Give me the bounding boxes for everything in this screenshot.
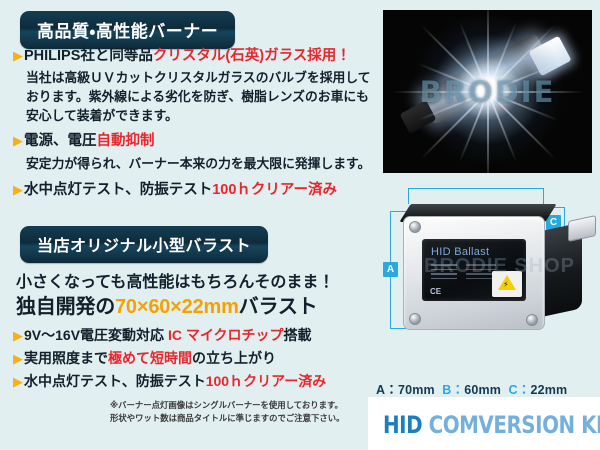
bullet-text-red: 極めて短時間 [108,350,192,366]
feature-desc-line: 当社は高級ＵＶカットクリスタルガラスのバルブを採用して [26,69,371,87]
triangle-bullet-icon: ▶ [13,48,23,63]
triangle-bullet-icon: ▶ [13,182,23,197]
ballast-label-title: HID Ballast [431,246,489,258]
dimensions-legend: A：70mm B：60mm C：22mm [376,379,567,398]
hid-conversion-kit-logo: HID COMVERSION KIT [383,411,600,439]
bullet-text-black: 9V〜16V電圧変動対応 [24,327,168,343]
section-1-badge-title: 高品質・高性能バーナー [20,11,235,49]
bullet-text-black: PHILIPS社と同等品 [24,48,153,64]
ce-mark: CE [430,287,441,296]
left-content-column: 高品質・高性能バーナー ▶PHILIPS社と同等品クリスタル(石英)ガラス採用！… [0,0,372,450]
dim-marker-a: A [383,262,398,277]
feature-bullet-voltage: ▶電源、電圧自動抑制 [13,133,155,150]
bullet-text-red: 100ｈクリアー済み [212,182,337,198]
light-glow [413,14,563,164]
bullet-text-black: 電源、電圧 [24,133,97,149]
bullet-text-tail: の立ち上がり [192,350,276,366]
legend-sep: ： [385,383,398,397]
feature-bullet-watertest: ▶水中点灯テスト、防振テスト100ｈクリアー済み [13,182,337,199]
legend-key-c: C [509,383,518,397]
dim-guide-b-left-tick [408,188,409,204]
logo-hid-text: HID [383,411,422,439]
disclaimer-note: ※バーナー点灯画像はシングルバーナーを使用しております。 形状やワット数は商品タ… [110,399,345,425]
bullet-text-black: 水中点灯テスト、防振テスト [24,182,212,198]
bullet-text-red: IC マイクロチップ [168,327,284,343]
ballast-bullet-ic-chip: ▶9V〜16V電圧変動対応 IC マイクロチップ搭載 [13,327,312,344]
bullet-text-red: クリスタル(石英)ガラス採用！ [153,48,351,64]
bulb-photo: BRODIE [383,10,592,173]
legend-value-a: 70mm [398,383,435,397]
ballast-bullet-startup: ▶実用照度まで極めて短時間の立ち上がり [13,350,276,367]
ballast-screw [409,221,421,233]
bullet-text-black: 水中点灯テスト、防振テスト [24,373,206,389]
bullet-text-red: 自動抑制 [97,133,155,149]
legend-sep: ： [518,383,531,397]
triangle-bullet-icon: ▶ [13,374,23,389]
dim-guide-b-horizontal [408,188,544,189]
bullet-text-black: 実用照度まで [24,350,108,366]
feature-bullet-philips: ▶PHILIPS社と同等品クリスタル(石英)ガラス採用！ [13,48,351,65]
bullet-text-tail: 搭載 [284,327,312,343]
section-2-badge-title: 当店オリジナル小型バラスト [20,226,268,263]
disclaimer-line-2: 形状やワット数は商品タイトルに準じますのでご注意下さい。 [110,412,345,425]
headline-pre: 独自開発の [16,296,115,318]
ballast-label-spec-lines [431,264,457,282]
feature-desc-line: おります。紫外線による劣化を防ぎ、樹脂レンズのお車にも [26,88,369,106]
triangle-bullet-icon: ▶ [13,328,23,343]
headline-post: バラスト [239,296,318,318]
ballast-diagram: A B C HID Ballast [372,183,600,398]
right-media-column: BRODIE A B C [372,0,600,450]
ballast-output-plug [568,215,596,242]
legend-value-b: 60mm [464,383,501,397]
feature-desc-line: 安心して装着ができます。 [26,107,178,125]
ballast-tagline: 小さくなっても高性能はもちろんそのまま！ [16,268,334,292]
ballast-housing: HID Ballast CE [403,216,545,330]
ballast-screw [526,314,538,326]
feature-desc-line: 安定力が得られ、バーナー本来の力を最大限に発揮します。 [26,155,370,173]
legend-value-c: 22mm [530,383,567,397]
high-voltage-warning-icon [492,271,522,297]
ballast-bullet-watertest: ▶水中点灯テスト、防振テスト100ｈクリアー済み [13,373,326,390]
legend-key-a: A [376,383,385,397]
legend-sep: ： [451,383,464,397]
product-feature-banner: 高品質・高性能バーナー ▶PHILIPS社と同等品クリスタル(石英)ガラス採用！… [0,0,600,450]
triangle-bullet-icon: ▶ [13,351,23,366]
triangle-bullet-icon: ▶ [13,133,23,148]
headline-dimensions: 70×60×22mm [115,296,239,318]
disclaimer-line-1: ※バーナー点灯画像はシングルバーナーを使用しております。 [110,399,345,412]
ballast-headline: 独自開発の70×60×22mmバラスト [16,290,317,319]
ballast-spec-label: HID Ballast CE [422,239,526,301]
ballast-screw [409,313,421,325]
bullet-text-red: 100ｈクリアー済み [206,373,327,389]
logo-conversion-kit-text: COMVERSION KIT [422,411,600,439]
